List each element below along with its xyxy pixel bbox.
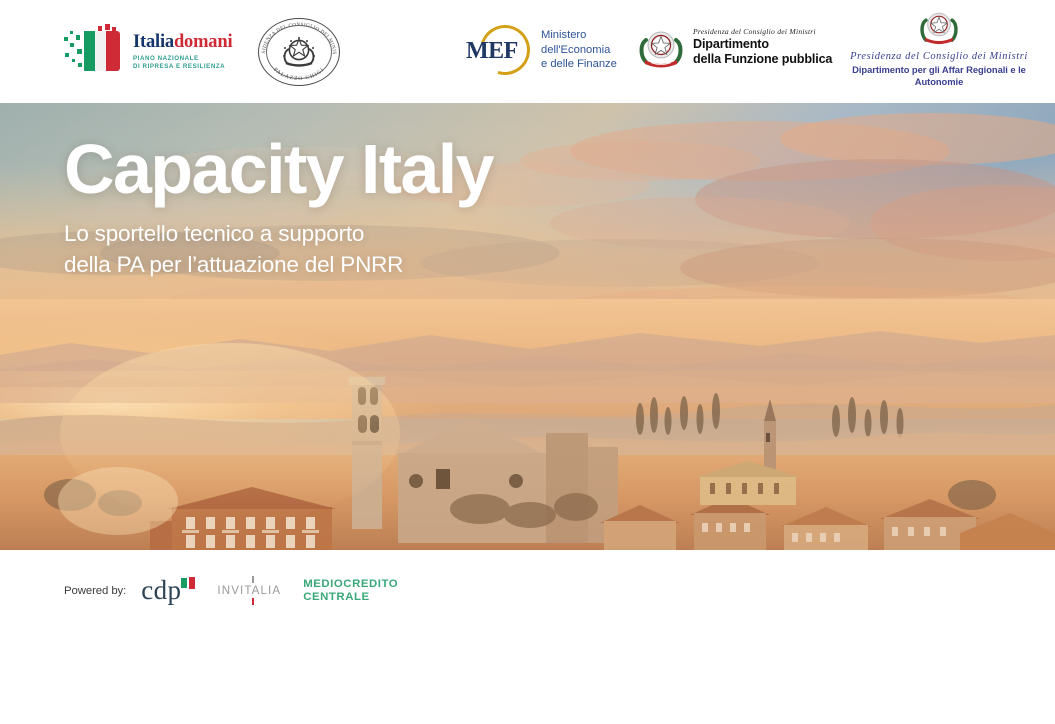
svg-text:PALAZZO CHIGI: PALAZZO CHIGI <box>272 67 326 82</box>
italiadomani-word-domani: domani <box>174 32 232 52</box>
dfp-department-name: Dipartimento della Funzione pubblica <box>693 37 832 66</box>
mcc-line1: MEDIOCREDITO <box>303 578 398 591</box>
italiadomani-subtitle: PIANO NAZIONALE DI RIPRESA E RESILIENZA <box>133 55 232 70</box>
invitalia-logo[interactable]: INVITALIA <box>217 584 281 597</box>
cdp-logo[interactable]: cdp <box>141 577 195 604</box>
mef-line1: Ministero <box>541 28 617 43</box>
invitalia-wordmark: INVITALIA <box>217 584 281 597</box>
palazzo-chigi-seal[interactable]: PRESIDENZA DEL CONSIGLIO DEI MINISTRI PA… <box>258 18 340 86</box>
italiadomani-flag-icon <box>62 27 126 75</box>
dfp-text-block: Presidenza del Consiglio dei Ministri Di… <box>693 27 832 66</box>
hero-banner: Capacity Italy Lo sportello tecnico a su… <box>0 103 1055 550</box>
cdp-red-square-icon <box>189 577 195 589</box>
mef-ministry-name: Ministero dell'Economia e delle Finanze <box>541 28 617 72</box>
powered-by-bar: Powered by: cdp INVITALIA MEDIOCREDITO C… <box>0 550 1055 724</box>
hero-subtitle-line1: Lo sportello tecnico a supporto <box>64 218 493 249</box>
mef-line2: dell'Economia <box>541 43 617 58</box>
italiadomani-wordmark: Italiadomani <box>133 32 232 52</box>
cdp-wordmark: cdp <box>141 575 181 605</box>
mef-mark-icon: MEF <box>466 23 532 77</box>
dfp-line2: della Funzione pubblica <box>693 52 832 67</box>
italiadomani-word-italia: Italia <box>133 32 174 52</box>
dipartimento-affari-regionali-logo[interactable]: Presidenza del Consiglio dei Ministri Di… <box>836 8 1042 88</box>
republic-emblem-icon <box>280 35 318 69</box>
dfp-line1: Dipartimento <box>693 37 832 52</box>
hero-text-block: Capacity Italy Lo sportello tecnico a su… <box>64 131 493 280</box>
cdp-green-square-icon <box>181 578 187 588</box>
invitalia-top-bar-icon <box>252 576 254 583</box>
republic-emblem-icon <box>638 24 684 70</box>
mef-line3: e delle Finanze <box>541 57 617 72</box>
dfp-presidency-line: Presidenza del Consiglio dei Ministri <box>693 27 832 36</box>
dara-department-name: Dipartimento per gli Affar Regionali e l… <box>836 64 1042 88</box>
invitalia-bottom-bar-icon <box>252 598 254 605</box>
mcc-line2: CENTRALE <box>303 591 398 604</box>
powered-by-row: Powered by: cdp INVITALIA MEDIOCREDITO C… <box>64 577 398 604</box>
page-title: Capacity Italy <box>64 131 493 207</box>
hero-subtitle-line2: della PA per l’attuazione del PNRR <box>64 249 493 280</box>
hero-subtitle: Lo sportello tecnico a supporto della PA… <box>64 218 493 280</box>
dara-presidency-line: Presidenza del Consiglio dei Ministri <box>836 51 1042 63</box>
mef-acronym: MEF <box>466 38 518 65</box>
institutional-logo-bar: Italiadomani PIANO NAZIONALE DI RIPRESA … <box>0 0 1055 103</box>
dipartimento-funzione-pubblica-logo[interactable]: Presidenza del Consiglio dei Ministri Di… <box>638 24 832 70</box>
italiadomani-logo[interactable]: Italiadomani PIANO NAZIONALE DI RIPRESA … <box>62 27 232 75</box>
italiadomani-subtitle-line1: PIANO NAZIONALE <box>133 55 232 63</box>
mef-logo[interactable]: MEF Ministero dell'Economia e delle Fina… <box>466 23 617 77</box>
mediocredito-centrale-logo[interactable]: MEDIOCREDITO CENTRALE <box>303 578 398 603</box>
republic-emblem-icon <box>919 8 959 48</box>
powered-by-label: Powered by: <box>64 585 126 597</box>
italiadomani-subtitle-line2: DI RIPRESA E RESILIENZA <box>133 63 232 71</box>
